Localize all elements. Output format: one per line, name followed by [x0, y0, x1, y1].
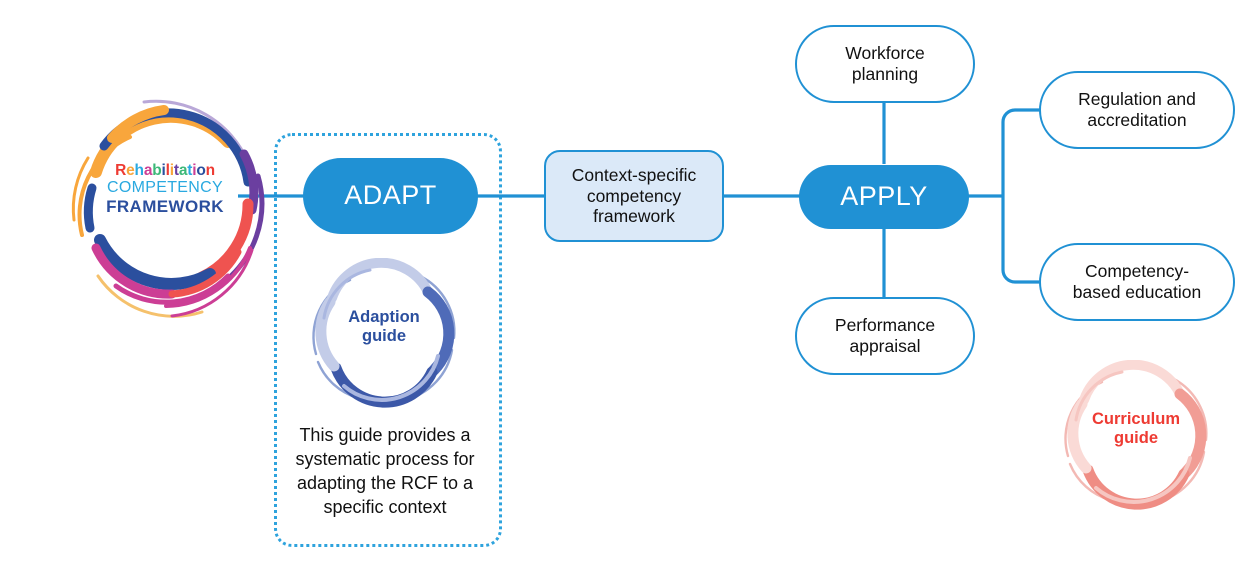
- regulation-accreditation-line1: Regulation and: [1078, 89, 1196, 110]
- rcf-letter: a: [144, 163, 152, 179]
- rcf-line-competency: COMPETENCY: [52, 179, 278, 197]
- adapt-node[interactable]: ADAPT: [303, 158, 478, 234]
- rcf-letter: o: [196, 163, 205, 179]
- adaption-guide-blurb: This guide provides a systematic process…: [276, 424, 494, 520]
- curriculum-guide-logo: Curriculum guide: [1052, 360, 1220, 512]
- diagram-canvas: Rehabilitation COMPETENCY FRAMEWORK ADAP…: [0, 0, 1260, 566]
- rcf-line-rehabilitation: Rehabilitation: [52, 163, 278, 179]
- competency-based-education-node[interactable]: Competency- based education: [1039, 243, 1235, 321]
- curriculum-guide-line2: guide: [1052, 429, 1220, 448]
- adapt-label: ADAPT: [344, 180, 437, 212]
- performance-appraisal-node[interactable]: Performance appraisal: [795, 297, 975, 375]
- adaption-guide-line1: Adaption: [300, 308, 468, 327]
- context-specific-framework-box[interactable]: Context-specific competency framework: [544, 150, 724, 242]
- apply-node[interactable]: APPLY: [799, 165, 969, 229]
- context-box-line2: competency: [587, 186, 681, 207]
- context-box-line3: framework: [593, 206, 675, 227]
- regulation-accreditation-node[interactable]: Regulation and accreditation: [1039, 71, 1235, 149]
- connector-right-bracket: [1003, 110, 1040, 282]
- workforce-planning-line1: Workforce: [845, 43, 924, 64]
- adaption-guide-line2: guide: [300, 327, 468, 346]
- rcf-line-framework: FRAMEWORK: [52, 198, 278, 217]
- rcf-logo-text: Rehabilitation COMPETENCY FRAMEWORK: [52, 163, 278, 216]
- competency-based-education-line2: based education: [1073, 282, 1201, 303]
- rcf-logo: Rehabilitation COMPETENCY FRAMEWORK: [52, 80, 278, 320]
- performance-appraisal-line1: Performance: [835, 315, 935, 336]
- apply-label: APPLY: [840, 181, 928, 213]
- rcf-letter: n: [206, 163, 215, 179]
- curriculum-guide-label: Curriculum guide: [1052, 410, 1220, 448]
- rcf-letter: h: [135, 163, 144, 179]
- curriculum-guide-line1: Curriculum: [1052, 410, 1220, 429]
- workforce-planning-line2: planning: [852, 64, 918, 85]
- rcf-letter: R: [115, 163, 126, 179]
- workforce-planning-node[interactable]: Workforce planning: [795, 25, 975, 103]
- rcf-letter: e: [126, 163, 134, 179]
- adaption-guide-logo: Adaption guide: [300, 258, 468, 410]
- rcf-letter: a: [179, 163, 187, 179]
- context-box-line1: Context-specific: [572, 165, 697, 186]
- regulation-accreditation-line2: accreditation: [1087, 110, 1186, 131]
- competency-based-education-line1: Competency-: [1085, 261, 1189, 282]
- adaption-guide-label: Adaption guide: [300, 308, 468, 346]
- performance-appraisal-line2: appraisal: [849, 336, 920, 357]
- rcf-letter: b: [152, 163, 161, 179]
